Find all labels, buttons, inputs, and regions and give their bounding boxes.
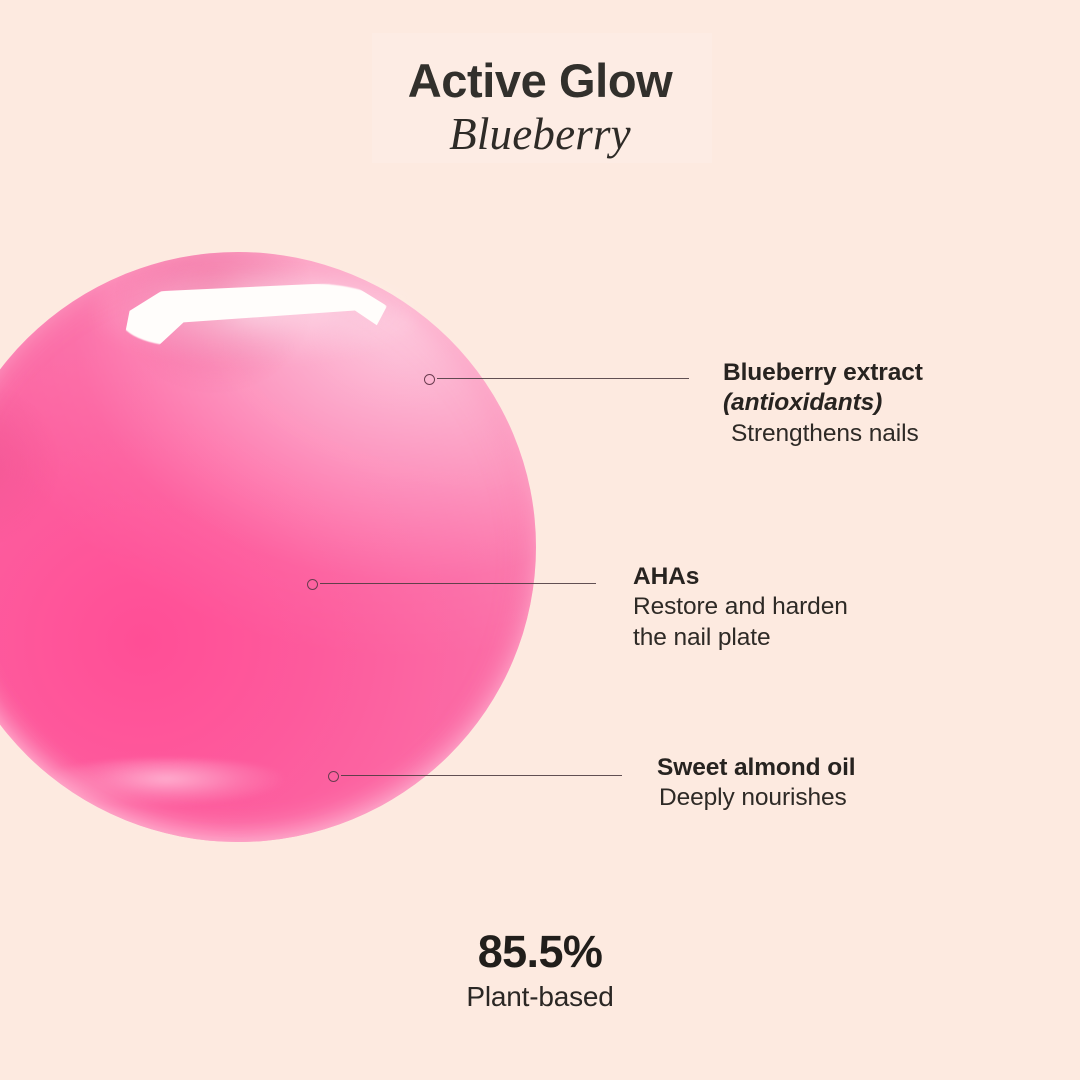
callout-title-sweet-almond-oil: Sweet almond oil [657,753,997,783]
plant-based-stat: 85.5% Plant-based [0,928,1080,1013]
stat-value: 85.5% [0,928,1080,976]
callout-anchor-dot-ahas [307,579,318,590]
callout-leader-line-ahas [320,583,596,584]
callout-leader-line-sweet-almond-oil [341,775,622,776]
callout-ahas: AHAs Restore and harden the nail plate [633,562,963,653]
callout-description-ahas-line1: Restore and harden [633,592,963,622]
nail-polish-droplet [0,252,536,842]
callout-description-blueberry-extract: Strengthens nails [723,419,1053,449]
stat-label: Plant-based [0,980,1080,1014]
callout-description-sweet-almond-oil: Deeply nourishes [657,783,997,813]
product-name: Active Glow [0,56,1080,107]
product-variant: Blueberry [0,109,1080,159]
callout-leader-line-blueberry-extract [437,378,689,379]
callout-title-ahas: AHAs [633,562,963,592]
droplet-body [0,252,536,842]
callout-subtitle-blueberry-extract: (antioxidants) [723,388,1053,418]
callout-blueberry-extract: Blueberry extract (antioxidants) Strengt… [723,358,1053,449]
callout-sweet-almond-oil: Sweet almond oil Deeply nourishes [657,753,997,814]
callout-title-blueberry-extract: Blueberry extract [723,358,1053,388]
page-title: Active Glow Blueberry [0,56,1080,159]
product-infographic: Active Glow Blueberry Blueberry extract … [0,0,1080,1080]
callout-anchor-dot-blueberry-extract [424,374,435,385]
callout-description-ahas-line2: the nail plate [633,623,963,653]
callout-anchor-dot-sweet-almond-oil [328,771,339,782]
